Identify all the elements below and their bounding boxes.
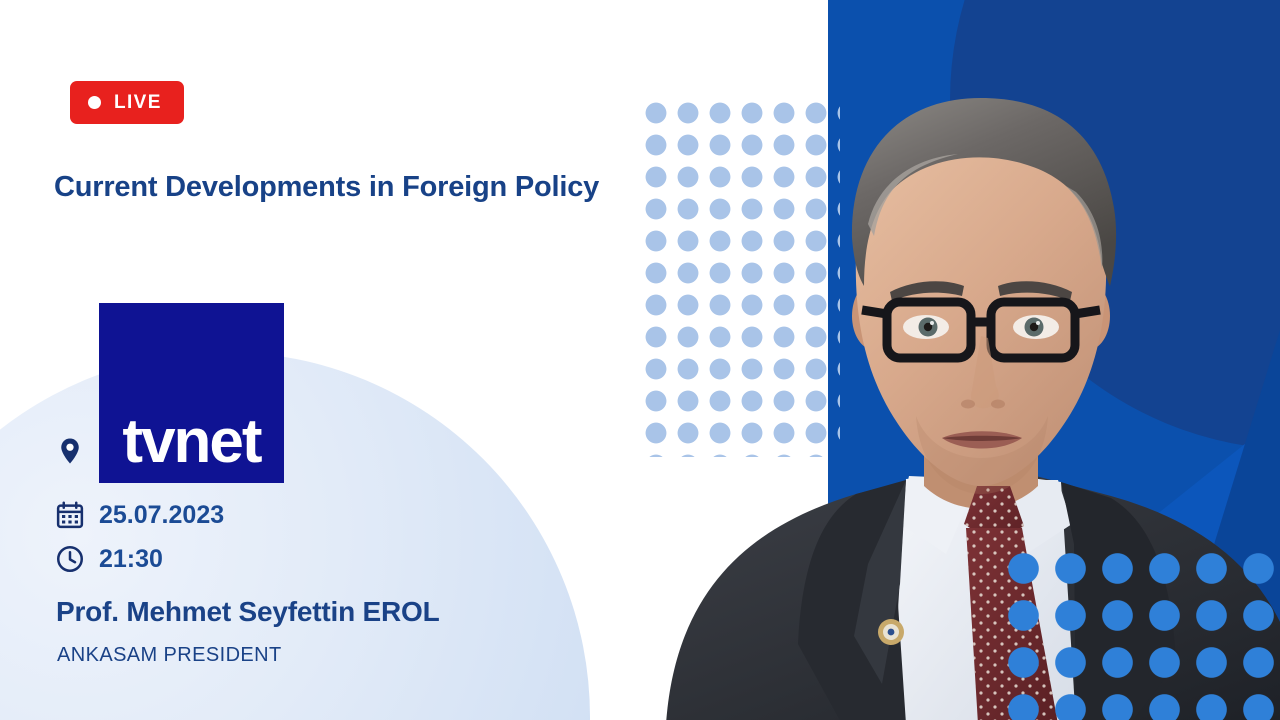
speaker-role: ANKASAM PRESIDENT (57, 645, 282, 665)
live-dot-icon (88, 96, 101, 109)
date-row: 25.07.2023 (55, 500, 224, 530)
tvnet-wordmark: tvnet (122, 411, 260, 483)
clock-icon (55, 544, 85, 574)
time-row: 21:30 (55, 544, 163, 574)
live-badge-label: LIVE (114, 93, 162, 112)
speaker-name: Prof. Mehmet Seyfettin EROL (56, 598, 440, 626)
page-title: Current Developments in Foreign Policy (54, 168, 634, 207)
speaker-photo (606, 24, 1280, 720)
promo-banner: LIVE Current Developments in Foreign Pol… (0, 0, 1280, 720)
location-pin-icon (55, 436, 85, 466)
info-panel: LIVE Current Developments in Foreign Pol… (0, 0, 640, 720)
tvnet-logo: tvnet (99, 303, 284, 483)
time-value: 21:30 (99, 547, 163, 572)
live-badge: LIVE (70, 81, 184, 124)
calendar-icon (55, 500, 85, 530)
date-value: 25.07.2023 (99, 503, 224, 528)
broadcast-channel-row (55, 436, 99, 466)
